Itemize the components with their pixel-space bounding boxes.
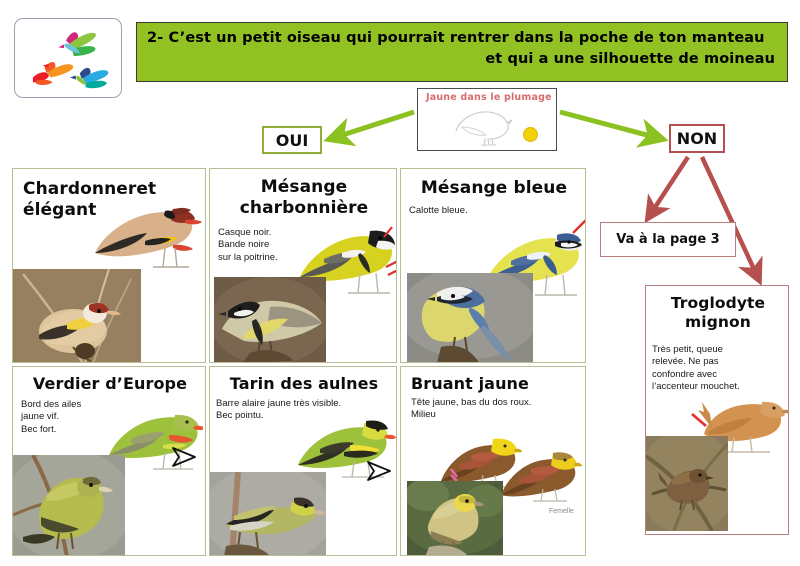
- question-label: Jaune dans le plumage ?: [426, 92, 557, 103]
- page-reference-box[interactable]: Va à la page 3: [600, 222, 736, 257]
- chardonneret-photo: [13, 269, 141, 363]
- header-line-1: 2- C’est un petit oiseau qui pourrait re…: [147, 28, 775, 49]
- bruant-photo: [407, 481, 503, 556]
- card-troglodyte-mignon[interactable]: Troglodyte mignon Très petit, queue rele…: [645, 285, 789, 535]
- logo-container: [14, 18, 122, 98]
- card-description: Très petit, queue relevée. Ne pas confon…: [652, 344, 788, 393]
- identification-key-page: 2- C’est un petit oiseau qui pourrait re…: [0, 0, 800, 566]
- card-title: Tarin des aulnes: [210, 374, 397, 394]
- decision-non-label: NON: [677, 129, 717, 148]
- decision-non[interactable]: NON: [669, 124, 725, 153]
- card-bruant-jaune[interactable]: Bruant jaune Tête jaune, bas du dos roux…: [400, 366, 586, 556]
- mesange-bleue-photo: [407, 273, 533, 363]
- troglodyte-photo: [646, 436, 728, 531]
- yellow-dot-icon: [523, 127, 538, 142]
- card-verdier-deurope[interactable]: Verdier d’Europe Bord des ailes jaune vi…: [12, 366, 206, 556]
- mesange-charbonniere-photo: [214, 277, 326, 363]
- hummingbirds-logo: [15, 19, 121, 97]
- arrow-non-to-page-ref: [648, 157, 688, 218]
- decision-oui-label: OUI: [276, 131, 309, 150]
- card-description: Tête jaune, bas du dos roux. Milieu: [411, 397, 586, 422]
- card-title: Troglodyte mignon: [646, 294, 789, 332]
- header-line-2: et qui a une silhouette de moineau: [147, 49, 775, 70]
- card-chardonneret-elegant[interactable]: Chardonneret élégant: [12, 168, 206, 363]
- card-title: Bruant jaune: [411, 374, 586, 394]
- bird-outline-icon: [448, 105, 518, 149]
- chardonneret-illustration: [87, 191, 203, 281]
- pointer-arrow-icon: [362, 459, 392, 483]
- card-tarin-des-aulnes[interactable]: Tarin des aulnes Barre alaire jaune très…: [209, 366, 397, 556]
- page-reference-label: Va à la page 3: [616, 232, 719, 247]
- arrow-question-to-non: [560, 112, 662, 139]
- bruant-femelle-illustration: [497, 441, 583, 507]
- card-title: Mésange bleue: [401, 178, 586, 199]
- decision-oui[interactable]: OUI: [262, 126, 322, 154]
- question-node: Jaune dans le plumage ?: [417, 88, 557, 151]
- arrow-question-to-oui: [330, 112, 414, 139]
- card-mesange-bleue[interactable]: Mésange bleue Calotte bleue.: [400, 168, 586, 363]
- tarin-photo: [210, 472, 326, 556]
- label-femelle: Femelle: [549, 508, 574, 515]
- verdier-photo: [13, 455, 125, 556]
- card-mesange-charbonniere[interactable]: Mésange charbonnière Casque noir. Bande …: [209, 168, 397, 363]
- card-title: Verdier d’Europe: [13, 374, 206, 394]
- header-banner: 2- C’est un petit oiseau qui pourrait re…: [136, 22, 788, 82]
- arrow-non-to-troglodyte: [702, 157, 759, 280]
- pointer-arrow-icon: [167, 445, 197, 469]
